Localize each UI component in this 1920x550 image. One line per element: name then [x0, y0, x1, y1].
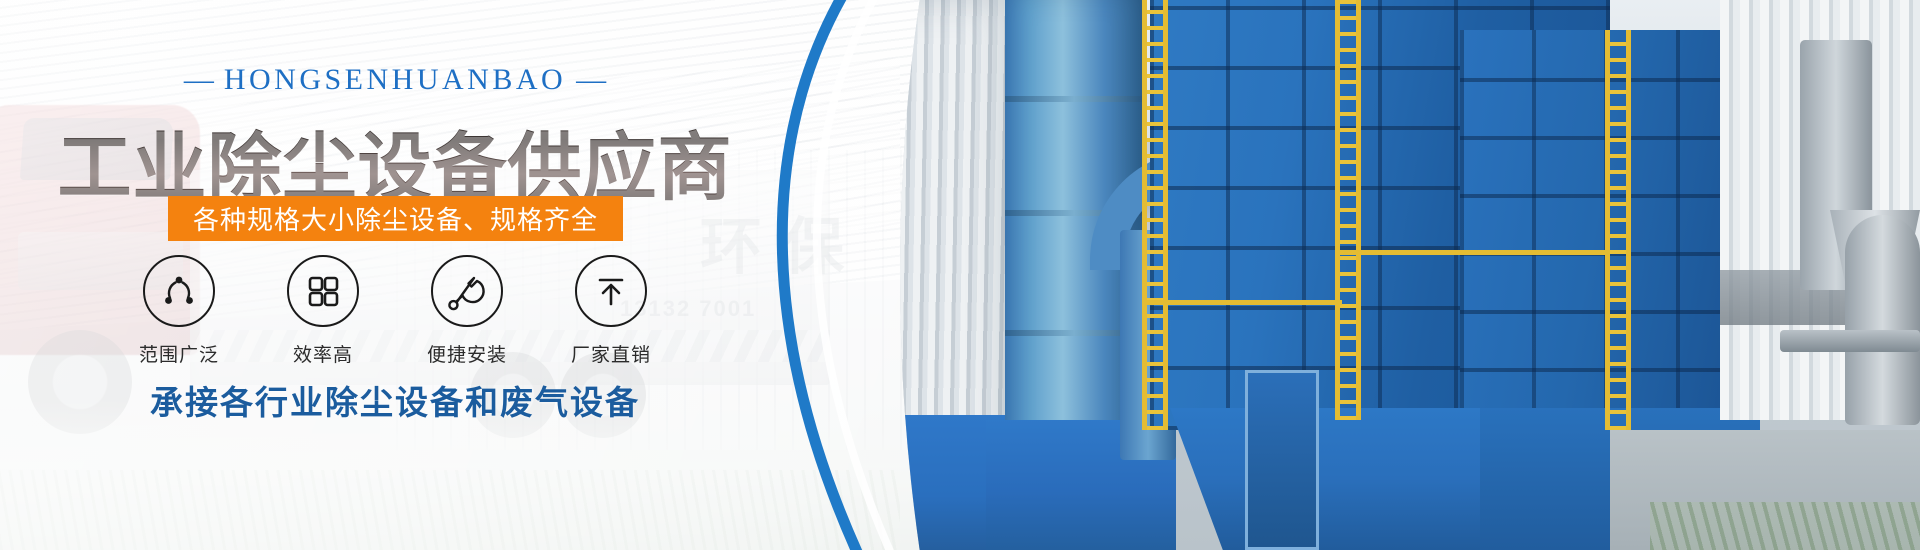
- equipment-access-door: [1245, 370, 1319, 550]
- share-nodes-icon: [159, 271, 199, 311]
- wrench-icon: [447, 271, 487, 311]
- cylinder-band: [1005, 96, 1143, 102]
- feature-icon-circle: [575, 255, 647, 327]
- horizontal-pipe: [1780, 330, 1920, 352]
- photo-vegetation: [1650, 502, 1920, 550]
- feature-icon-circle: [287, 255, 359, 327]
- subtitle-text: 各种规格大小除尘设备、规格齐全: [193, 200, 598, 237]
- feature-label: 便捷安装: [412, 340, 522, 367]
- subtitle-orange-bar: 各种规格大小除尘设备、规格齐全: [168, 196, 623, 241]
- banner-content: —HONGSENHUANBAO— 工业除尘设备供应商 各种规格大小除尘设备、规格…: [0, 0, 860, 550]
- feature-label: 厂家直销: [556, 340, 666, 367]
- yellow-ladder: [1335, 0, 1361, 420]
- feature-item-factory-direct[interactable]: 厂家直销: [556, 255, 666, 367]
- brand-eyebrow: —HONGSENHUANBAO—: [0, 63, 790, 97]
- yellow-ladder: [1605, 30, 1631, 430]
- yellow-handrail: [1142, 300, 1342, 305]
- hero-banner: 环保 13132 7001: [0, 0, 1920, 550]
- yellow-ladder: [1142, 0, 1168, 430]
- feature-label: 效率高: [268, 340, 378, 367]
- feature-item-installation[interactable]: 便捷安装: [412, 255, 522, 367]
- feature-list: 范围广泛 效率高: [0, 255, 790, 367]
- arrow-up-line-icon: [592, 272, 630, 310]
- feature-label: 范围广泛: [124, 340, 234, 367]
- grid-squares-icon: [304, 272, 342, 310]
- banner-tagline: 承接各行业除尘设备和废气设备: [0, 376, 790, 424]
- metal-tank: [1845, 215, 1920, 425]
- feature-item-efficiency[interactable]: 效率高: [268, 255, 378, 367]
- eyebrow-dash-left: —: [174, 63, 224, 96]
- eyebrow-text: HONGSENHUANBAO: [224, 63, 566, 96]
- industrial-equipment-photo: [790, 0, 1920, 550]
- eyebrow-dash-right: —: [566, 63, 616, 96]
- feature-item-range[interactable]: 范围广泛: [124, 255, 234, 367]
- feature-icon-circle: [431, 255, 503, 327]
- yellow-handrail: [1335, 250, 1610, 255]
- feature-icon-circle: [143, 255, 215, 327]
